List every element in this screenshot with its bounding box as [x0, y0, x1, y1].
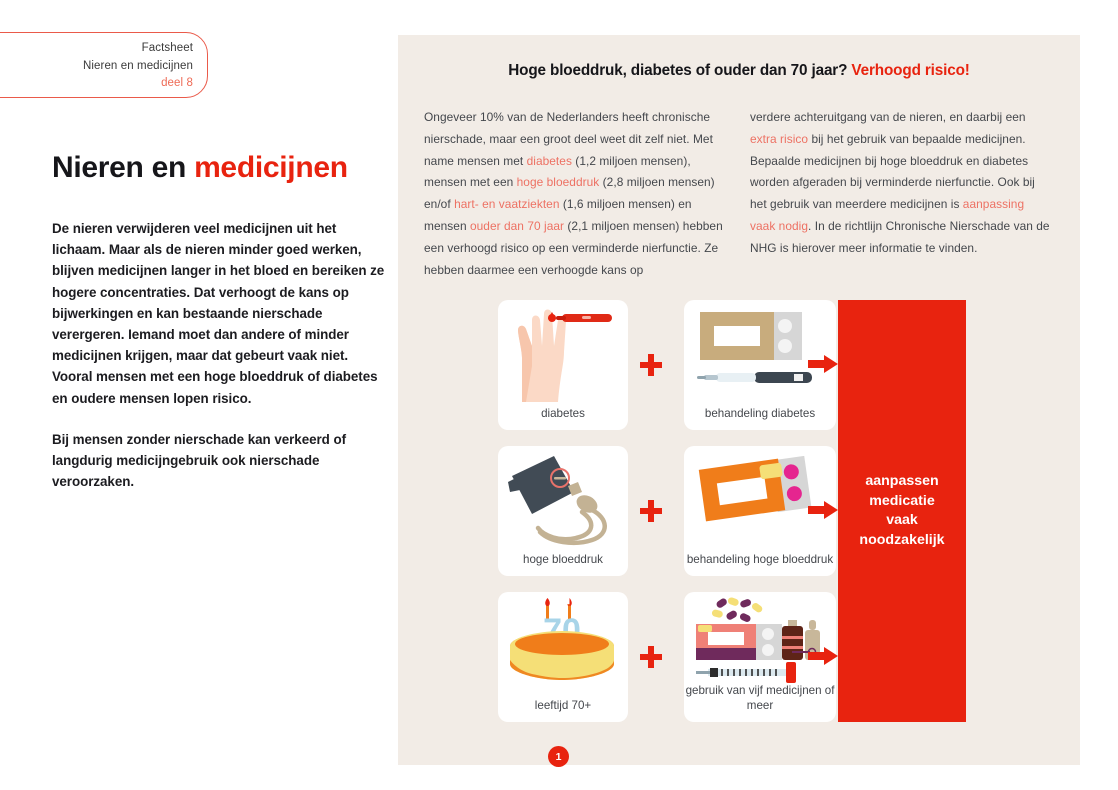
plus-icon-row-3 — [640, 646, 662, 668]
panel-paragraph-right: verdere achteruitgang van de nieren, en … — [750, 107, 1050, 260]
plus-icon-row-2 — [640, 500, 662, 522]
orange-medicine-box-icon — [696, 456, 824, 530]
panel-columns: Ongeveer 10% van de Nederlanders heeft c… — [424, 107, 1054, 281]
factsheet-page: Factsheet Nieren en medicijnen deel 8 Ni… — [0, 0, 1118, 790]
panel-column-left: Ongeveer 10% van de Nederlanders heeft c… — [424, 107, 724, 281]
highlight-diabetes: diabetes — [527, 154, 572, 168]
flow-row-diabetes: diabetes — [498, 300, 836, 430]
result-text: aanpassen medicatie vaak noodzakelijk — [859, 472, 944, 550]
panel-paragraph-left: Ongeveer 10% van de Nederlanders heeft c… — [424, 107, 724, 281]
panel-heading-accent: Verhoogd risico! — [851, 62, 969, 79]
page-title: Nieren en medicijnen — [52, 150, 392, 186]
card-label-leeftijd: leeftijd 70+ — [498, 698, 628, 713]
arrow-icon-row-1 — [808, 355, 838, 373]
page-title-plain: Nieren en — [52, 151, 194, 184]
flow-row-hoge-bloeddruk: hoge bloeddruk behandeling hoge bloeddru… — [498, 446, 836, 576]
page-title-accent: medicijnen — [194, 151, 348, 184]
highlight-hoge-bloeddruk: hoge bloeddruk — [517, 175, 600, 189]
factsheet-tab: Factsheet Nieren en medicijnen deel 8 — [0, 32, 208, 98]
panel-heading-plain: Hoge bloeddruk, diabetes of ouder dan 70… — [508, 62, 851, 79]
multiple-medicines-icon — [692, 596, 828, 684]
card-label-behandeling-hoge-bloeddruk: behandeling hoge bloeddruk — [684, 552, 836, 567]
arrow-icon-row-2 — [808, 501, 838, 519]
plus-icon-row-1 — [640, 354, 662, 376]
risk-flow-diagram: diabetes — [498, 300, 966, 722]
card-cause-leeftijd: 70 leeftijd 70+ — [498, 592, 628, 722]
intro-text: De nieren verwijderen veel medicijnen ui… — [52, 218, 392, 492]
tab-line-factsheet: Factsheet — [0, 40, 193, 58]
intro-paragraph-1: De nieren verwijderen veel medicijnen ui… — [52, 218, 392, 409]
highlight-hart-vaatziekten: hart- en vaatziekten — [454, 197, 559, 211]
intro-paragraph-2: Bij mensen zonder nierschade kan verkeer… — [52, 429, 392, 493]
card-cause-diabetes: diabetes — [498, 300, 628, 430]
card-label-behandeling-diabetes: behandeling diabetes — [684, 406, 836, 421]
card-label-hoge-bloeddruk: hoge bloeddruk — [498, 552, 628, 567]
tab-line-subject: Nieren en medicijnen — [0, 58, 193, 76]
arrow-icon-row-3 — [808, 647, 838, 665]
card-cause-hoge-bloeddruk: hoge bloeddruk — [498, 446, 628, 576]
tab-line-part: deel 8 — [0, 75, 193, 93]
panel-heading: Hoge bloeddruk, diabetes of ouder dan 70… — [398, 62, 1080, 80]
result-box: aanpassen medicatie vaak noodzakelijk — [838, 300, 966, 722]
flow-row-leeftijd: 70 leeftijd 70+ — [498, 592, 836, 722]
card-label-gebruik-medicijnen: gebruik van vijf medicijnen of meer — [684, 683, 836, 713]
panel-column-right: verdere achteruitgang van de nieren, en … — [750, 107, 1050, 281]
highlight-extra-risico: extra risico — [750, 132, 808, 146]
birthday-cake-icon: 70 — [502, 598, 624, 690]
txt: verdere achteruitgang van de nieren, en … — [750, 110, 1026, 124]
card-label-diabetes: diabetes — [498, 406, 628, 421]
page-number-badge: 1 — [548, 746, 569, 767]
flow-rows: diabetes — [498, 300, 836, 738]
medicine-box-and-pen-icon — [694, 310, 826, 396]
highlight-ouder-dan-70: ouder dan 70 jaar — [470, 219, 564, 233]
hand-with-lancet-icon — [504, 306, 622, 404]
blood-pressure-cuff-icon — [504, 452, 622, 548]
left-column: Nieren en medicijnen De nieren verwijder… — [52, 150, 392, 492]
